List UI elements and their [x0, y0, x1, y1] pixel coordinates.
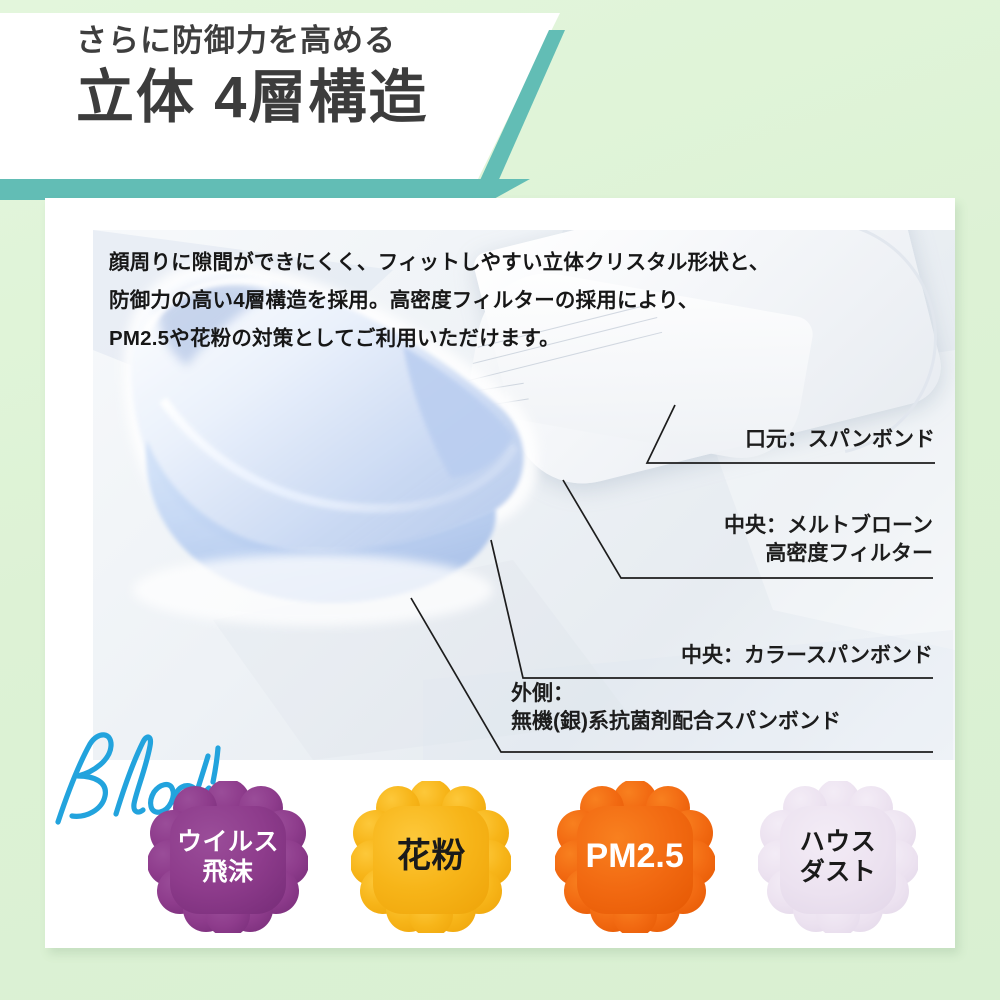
description-line-2: 防御力の高い4層構造を採用。高密度フィルターの採用により、 [109, 282, 749, 320]
layer-label-2-line2: 高密度フィルター [724, 540, 933, 568]
feature-badge-row: ウイルス 飛沫 [148, 782, 918, 932]
badge-pm25-text: PM2.5 [586, 836, 684, 877]
badge-line-1: 花粉 [397, 836, 466, 877]
layer-label-4-line1: 外側： [511, 680, 841, 708]
layer-label-4: 外側： 無機(銀)系抗菌剤配合スパンボンド [511, 680, 841, 735]
badge-house-dust-text: ハウス ダスト [800, 827, 877, 888]
layer-label-1-line1: 口元：スパンボンド [745, 426, 935, 454]
badge-line-2: 飛沫 [177, 857, 279, 888]
badge-pm25[interactable]: PM2.5 [555, 781, 715, 933]
badge-line-1: ウイルス [177, 827, 279, 858]
page-background: さらに防御力を高める 立体 4層構造 [0, 0, 1000, 1000]
layer-label-4-line2: 無機(銀)系抗菌剤配合スパンボンド [511, 708, 841, 736]
badge-pollen-text: 花粉 [397, 836, 466, 877]
description-line-1: 顔周りに隙間ができにくく、フィットしやすい立体クリスタル形状と、 [109, 244, 749, 282]
header-title: 立体 4層構造 [76, 65, 506, 132]
badge-line-1: ハウス [800, 827, 877, 858]
badge-line-1: PM2.5 [586, 836, 684, 877]
layer-label-2: 中央：メルトブローン 高密度フィルター [724, 512, 933, 567]
badge-virus-droplet[interactable]: ウイルス 飛沫 [148, 781, 308, 933]
badge-line-2: ダスト [800, 857, 877, 888]
layer-label-2-line1: 中央：メルトブローン [724, 512, 933, 540]
description-line-3: PM2.5や花粉の対策としてご利用いただけます。 [109, 320, 749, 358]
header-text-group: さらに防御力を高める 立体 4層構造 [76, 22, 506, 131]
header-accent-bar [0, 179, 530, 200]
badge-pollen[interactable]: 花粉 [351, 781, 511, 933]
layer-label-3-line1: 中央：カラースパンボンド [681, 642, 933, 670]
layer-label-3: 中央：カラースパンボンド [681, 642, 933, 670]
mask-diagram-photo: 顔周りに隙間ができにくく、フィットしやすい立体クリスタル形状と、 防御力の高い4… [93, 230, 955, 760]
badge-house-dust[interactable]: ハウス ダスト [758, 781, 918, 933]
layer-label-1: 口元：スパンボンド [745, 426, 935, 454]
badge-virus-droplet-text: ウイルス 飛沫 [177, 827, 279, 888]
description-block: 顔周りに隙間ができにくく、フィットしやすい立体クリスタル形状と、 防御力の高い4… [109, 244, 749, 358]
header-subtitle: さらに防御力を高める [76, 22, 506, 61]
